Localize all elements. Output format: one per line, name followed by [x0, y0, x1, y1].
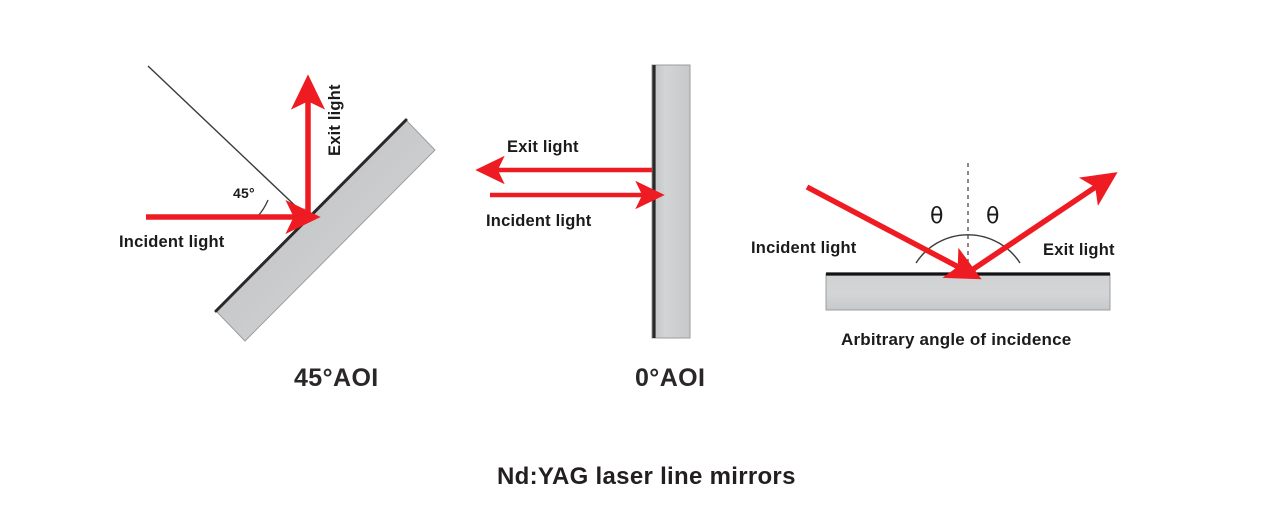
- theta-label-right: θ: [986, 206, 1000, 228]
- incident-ray-arbitrary: [807, 187, 966, 271]
- panel-0-aoi-graphics: [490, 65, 690, 338]
- panel-title-45-aoi: 45°AOI: [294, 366, 379, 391]
- angle-label-45: 45°: [233, 186, 255, 200]
- diagram-graphics: [0, 0, 1280, 524]
- exit-light-label-arbitrary: Exit light: [1043, 242, 1115, 259]
- incident-light-label-0: Incident light: [486, 213, 591, 230]
- panel-title-0-aoi: 0°AOI: [635, 366, 705, 391]
- mirror-horizontal: [826, 274, 1110, 310]
- incident-light-label-arbitrary: Incident light: [751, 240, 856, 257]
- mirror-vertical: [652, 65, 690, 338]
- panel-45-aoi-graphics: [146, 66, 435, 341]
- figure-caption: Nd:YAG laser line mirrors: [497, 465, 796, 489]
- angle-arc-45: [258, 200, 268, 216]
- reference-angle-line: [148, 66, 306, 216]
- exit-light-label-45: Exit light: [327, 84, 344, 156]
- mirror-body: [652, 65, 690, 338]
- incident-light-label-45: Incident light: [119, 234, 224, 251]
- mirror-body: [826, 274, 1110, 310]
- panel-title-arbitrary-aoi: Arbitrary angle of incidence: [841, 331, 1071, 348]
- theta-label-left: θ: [930, 206, 944, 228]
- exit-light-label-0: Exit light: [507, 139, 579, 156]
- figure-canvas: 45° Incident light Exit light 45°AOI Exi…: [0, 0, 1280, 524]
- reflection-point-45: [304, 214, 312, 222]
- panel-arbitrary-aoi-graphics: [807, 163, 1110, 310]
